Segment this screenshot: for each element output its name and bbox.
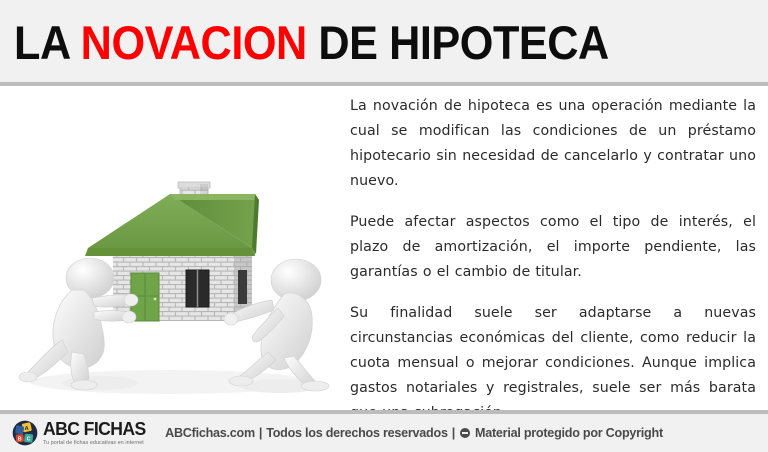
title-post: DE HIPOTECA <box>307 16 609 69</box>
flashcard: LA NOVACION DE HIPOTECA <box>0 0 768 452</box>
paragraph-2: Puede afectar aspectos como el tipo de i… <box>350 210 756 285</box>
svg-text:C: C <box>27 436 31 442</box>
paragraph-3: Su finalidad suele ser adaptarse a nueva… <box>350 301 756 410</box>
logo-wordmark: ABC FICHAS Tu portal de fichas educativa… <box>43 420 151 446</box>
text-panel: La novación de hipoteca es una operación… <box>340 86 768 410</box>
logo-tagline: Tu portal de fichas educativas en intern… <box>43 441 151 446</box>
footer-separator-2: | <box>452 426 455 440</box>
footer-rights: Todos los derechos reservados <box>266 426 448 440</box>
title-pre: LA <box>14 16 81 69</box>
footer-credits: ABCfichas.com | Todos los derechos reser… <box>165 426 663 440</box>
footer-copyright: Material protegido por Copyright <box>475 426 663 440</box>
logo-word-fichas: FICHAS <box>84 418 146 439</box>
copyright-icon <box>460 428 470 438</box>
house-movers-illustration <box>0 86 340 410</box>
footer-separator-1: | <box>259 426 262 440</box>
title-highlight: NOVACION <box>81 16 307 69</box>
logo-word: ABC FICHAS <box>43 420 146 439</box>
page-title: LA NOVACION DE HIPOTECA <box>14 19 609 67</box>
logo-word-abc: ABC <box>43 418 79 439</box>
footer-site[interactable]: ABCfichas.com <box>165 426 255 440</box>
footer: A B C ABC FICHAS Tu portal de fichas edu… <box>0 414 768 452</box>
svg-text:B: B <box>18 436 22 442</box>
paragraph-1: La novación de hipoteca es una operación… <box>350 94 756 194</box>
illustration-panel <box>0 86 340 410</box>
header: LA NOVACION DE HIPOTECA <box>0 0 768 86</box>
content-area: La novación de hipoteca es una operación… <box>0 86 768 410</box>
abc-fichas-logo-icon: A B C <box>12 420 38 446</box>
brand-logo[interactable]: A B C ABC FICHAS Tu portal de fichas edu… <box>12 420 151 446</box>
